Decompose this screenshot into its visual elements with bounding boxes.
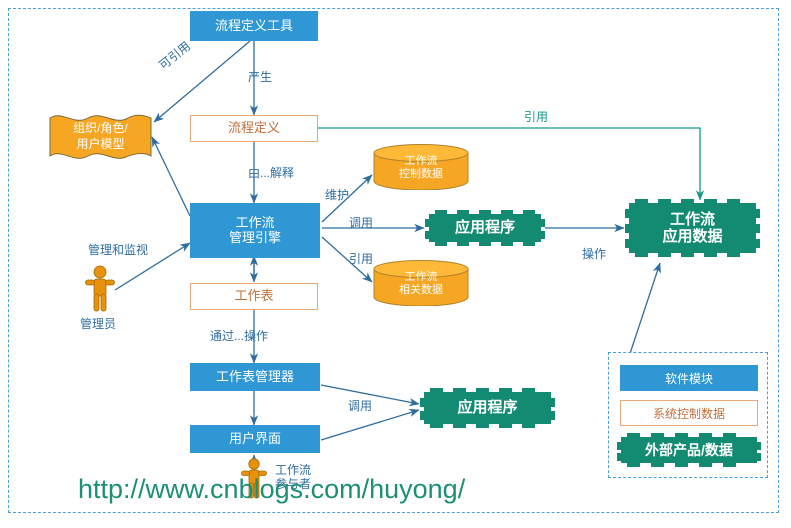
edge-label-through-operation: 通过...操作 bbox=[210, 327, 268, 344]
node-label-line1: 工作流 bbox=[235, 216, 274, 231]
node-wf-related-data[interactable]: 工作流 相关数据 bbox=[373, 260, 469, 306]
node-label: 用户界面 bbox=[229, 432, 281, 447]
node-application-bottom[interactable]: 应用程序 bbox=[420, 388, 555, 428]
node-worklist[interactable]: 工作表 bbox=[190, 283, 318, 310]
edge-label-maintains: 维护 bbox=[325, 186, 349, 203]
node-label-line1: 工作流 bbox=[373, 271, 469, 284]
edge-label-operate: 操作 bbox=[582, 245, 606, 262]
legend-item-external-product-data[interactable]: 外部产品/数据 bbox=[617, 433, 761, 467]
edge-label-manage-and-monitor: 管理和监视 bbox=[88, 241, 148, 258]
legend-item-system-control-data[interactable]: 系统控制数据 bbox=[620, 400, 758, 426]
node-label-line2: 相关数据 bbox=[373, 284, 469, 297]
edge-label-references-mid: 引用 bbox=[349, 250, 373, 267]
legend-item-software-module[interactable]: 软件模块 bbox=[620, 365, 758, 391]
node-user-interface[interactable]: 用户界面 bbox=[190, 425, 320, 453]
node-wf-application-data[interactable]: 工作流 应用数据 bbox=[625, 199, 760, 257]
node-label: 工作表管理器 bbox=[216, 370, 294, 385]
node-application-mid[interactable]: 应用程序 bbox=[425, 210, 545, 246]
legend-panel: 软件模块 系统控制数据 外部产品/数据 bbox=[608, 352, 768, 478]
diagram-canvas: 流程定义工具 组织/角色/ 用户模型 流程定义 工作流 管理引擎 工作表 工作表… bbox=[0, 0, 791, 528]
node-label-line2: 控制数据 bbox=[373, 168, 469, 181]
edge-label-interpreted-by: 由...解释 bbox=[248, 164, 294, 181]
edge-label-produces: 产生 bbox=[248, 68, 272, 85]
node-label: 流程定义工具 bbox=[215, 19, 293, 34]
edge-label-invokes-mid: 调用 bbox=[349, 214, 373, 231]
watermark-url: http://www.cnblogs.com/huyong/ bbox=[78, 474, 465, 505]
node-process-definition-tool[interactable]: 流程定义工具 bbox=[190, 11, 318, 41]
node-wf-control-data[interactable]: 工作流 控制数据 bbox=[373, 144, 469, 190]
node-label-line2: 管理引擎 bbox=[229, 231, 281, 246]
node-label-line1: 组织/角色/ bbox=[48, 121, 153, 137]
legend-label: 外部产品/数据 bbox=[645, 442, 733, 458]
node-label-line2: 用户模型 bbox=[48, 137, 153, 153]
node-worklist-manager[interactable]: 工作表管理器 bbox=[190, 363, 320, 391]
actor-administrator[interactable] bbox=[84, 265, 116, 313]
edge-label-invokes-bottom: 调用 bbox=[348, 397, 372, 414]
legend-label: 软件模块 bbox=[665, 370, 713, 387]
node-label: 工作表 bbox=[234, 289, 273, 304]
node-label-line2: 应用数据 bbox=[662, 228, 722, 245]
node-label: 应用程序 bbox=[457, 399, 517, 416]
node-label: 流程定义 bbox=[228, 121, 280, 136]
node-label-line1: 工作流 bbox=[670, 211, 715, 228]
node-label-line1: 工作流 bbox=[373, 155, 469, 168]
node-label: 应用程序 bbox=[455, 219, 515, 236]
node-workflow-engine[interactable]: 工作流 管理引擎 bbox=[190, 203, 320, 258]
node-process-definition[interactable]: 流程定义 bbox=[190, 115, 318, 142]
edge-label-reference-long: 引用 bbox=[524, 108, 548, 125]
legend-label: 系统控制数据 bbox=[653, 405, 725, 422]
node-org-role-user-model[interactable]: 组织/角色/ 用户模型 bbox=[48, 112, 153, 162]
person-icon bbox=[84, 265, 116, 313]
actor-administrator-label: 管理员 bbox=[80, 318, 116, 332]
